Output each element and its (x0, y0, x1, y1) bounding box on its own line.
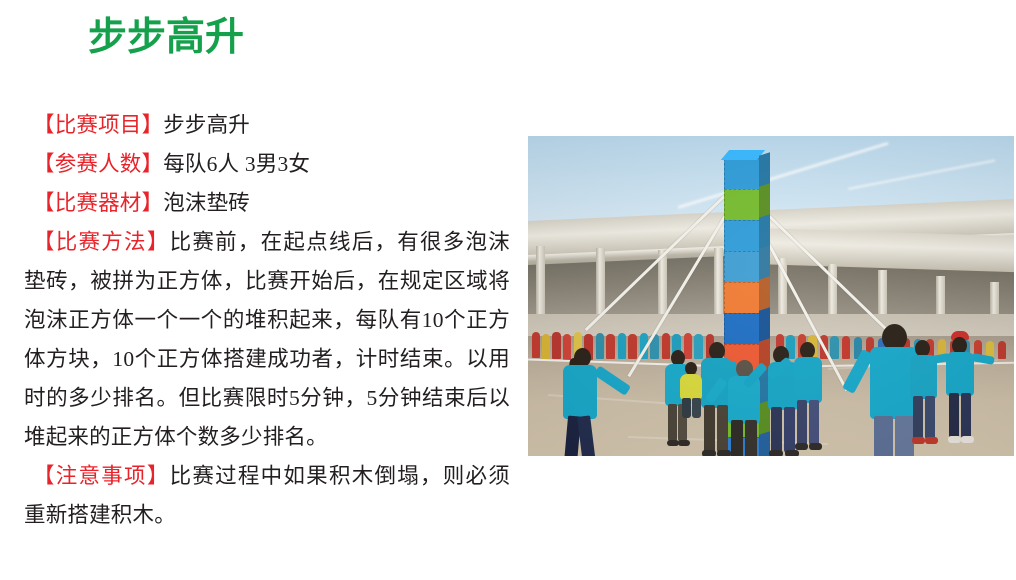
spectator (684, 333, 692, 359)
spectator (618, 333, 626, 359)
legs (668, 404, 677, 442)
entry-label: 【比赛器材】 (33, 191, 163, 215)
shoe (702, 450, 716, 456)
shoe (795, 443, 808, 450)
legs (874, 416, 893, 456)
foam-cube (724, 313, 760, 345)
spectator (842, 336, 850, 359)
spectator (998, 341, 1006, 359)
foam-cube (724, 251, 760, 283)
legs (745, 420, 757, 456)
spectator (552, 332, 561, 359)
shoe (912, 437, 925, 444)
entry-equipment: 【比赛器材】泡沫垫砖 (24, 184, 510, 223)
legs (682, 398, 691, 418)
torso (563, 365, 597, 419)
entry-notes: 【注意事项】比赛过程中如果积木倒塌，则必须重新搭建积木。 (24, 457, 510, 535)
spectator (662, 333, 670, 359)
spectator (532, 332, 540, 358)
shoe (785, 450, 799, 456)
foam-cube (724, 220, 760, 252)
shoe (717, 450, 731, 456)
foam-cube (724, 282, 760, 314)
legs (913, 396, 923, 440)
spectator (628, 334, 637, 359)
entry-text: 比赛前，在起点线后，有很多泡沫垫砖，被拼为正方体，比赛开始后，在规定区域将泡沫正… (24, 230, 510, 449)
entry-text: 每队6人 3男3女 (163, 152, 310, 176)
slide-canvas: 步步高升 【比赛项目】步步高升 【参赛人数】每队6人 3男3女 【比赛器材】泡沫… (0, 0, 1016, 580)
shoe (948, 436, 961, 443)
entry-text: 步步高升 (163, 113, 250, 137)
description-column: 【比赛项目】步步高升 【参赛人数】每队6人 3男3女 【比赛器材】泡沫垫砖 【比… (24, 106, 510, 535)
shoe (925, 437, 938, 444)
entry-label: 【注意事项】 (33, 464, 170, 488)
legs (809, 400, 819, 446)
legs (704, 405, 715, 453)
competition-photo (528, 136, 1014, 456)
entry-label: 【比赛项目】 (33, 113, 163, 137)
spectator (694, 334, 703, 359)
legs (895, 416, 914, 456)
shoe (769, 450, 783, 456)
torso (946, 352, 974, 396)
foam-cube (724, 158, 760, 190)
legs (731, 420, 743, 456)
spectator (830, 336, 839, 359)
safety-vest (680, 374, 702, 400)
legs (717, 405, 728, 453)
legs (692, 398, 701, 418)
entry-label: 【参赛人数】 (33, 152, 163, 176)
shoe (961, 436, 974, 443)
spectator (563, 334, 571, 360)
entry-competition-item: 【比赛项目】步步高升 (24, 106, 510, 145)
legs (925, 396, 935, 440)
entry-participant-count: 【参赛人数】每队6人 3男3女 (24, 145, 510, 184)
foam-cube (724, 189, 760, 221)
entry-method: 【比赛方法】比赛前，在起点线后，有很多泡沫垫砖，被拼为正方体，比赛开始后，在规定… (24, 223, 510, 457)
entry-text: 泡沫垫砖 (163, 191, 250, 215)
spectator (542, 334, 550, 360)
legs (771, 407, 782, 453)
legs (961, 393, 971, 439)
legs (797, 400, 807, 446)
legs (949, 393, 959, 439)
spectator (596, 333, 604, 359)
legs (784, 407, 795, 453)
torso (794, 357, 822, 403)
spectator (606, 334, 615, 359)
page-title: 步步高升 (88, 18, 244, 57)
entry-label: 【比赛方法】 (33, 230, 170, 254)
shoe (809, 443, 822, 450)
shoe (678, 440, 690, 446)
